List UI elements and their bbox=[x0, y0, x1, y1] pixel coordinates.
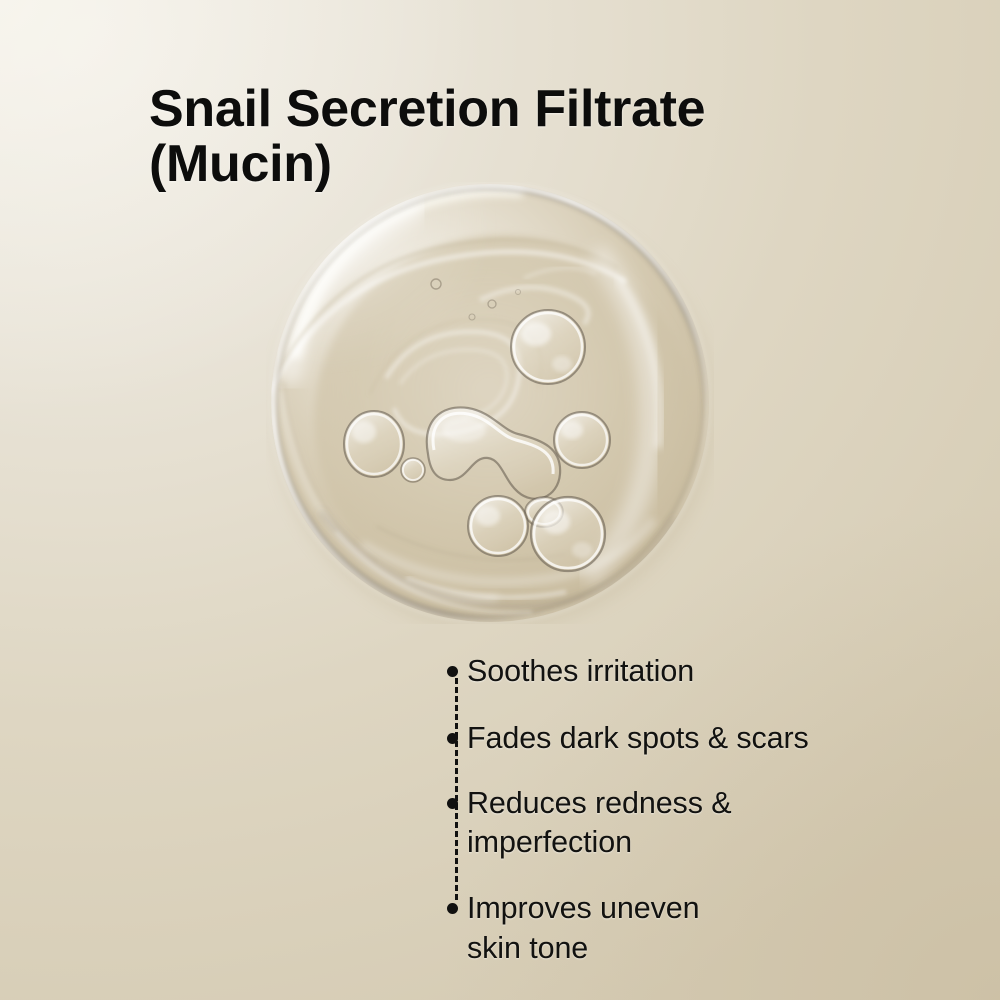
bullet-dot-icon bbox=[447, 798, 458, 809]
benefits-list: Soothes irritation Fades dark spots & sc… bbox=[447, 652, 947, 975]
bubble-lower-right bbox=[531, 497, 605, 571]
list-item: Fades dark spots & scars bbox=[447, 719, 947, 758]
list-item: Soothes irritation bbox=[447, 652, 947, 691]
bubble-oval-left bbox=[344, 411, 404, 477]
page-title: Snail Secretion Filtrate (Mucin) bbox=[149, 82, 889, 192]
bubble-lower-left bbox=[468, 496, 528, 556]
bubble-large-upper bbox=[511, 310, 585, 384]
bullet-dot-icon bbox=[447, 733, 458, 744]
benefit-label: Reduces redness & imperfection bbox=[467, 784, 731, 863]
benefit-label: Improves uneven skin tone bbox=[467, 889, 699, 968]
benefit-label: Fades dark spots & scars bbox=[467, 719, 809, 758]
gel-droplet-sphere bbox=[266, 182, 714, 624]
bubble-tiny-left bbox=[401, 458, 425, 482]
product-ingredient-poster: Snail Secretion Filtrate (Mucin) bbox=[0, 0, 1000, 1000]
bullet-dot-icon bbox=[447, 903, 458, 914]
list-item: Reduces redness & imperfection bbox=[447, 784, 947, 863]
bullet-dot-icon bbox=[447, 666, 458, 677]
bubble-mid-right bbox=[554, 412, 610, 468]
list-item: Improves uneven skin tone bbox=[447, 889, 947, 968]
benefit-label: Soothes irritation bbox=[467, 652, 694, 691]
